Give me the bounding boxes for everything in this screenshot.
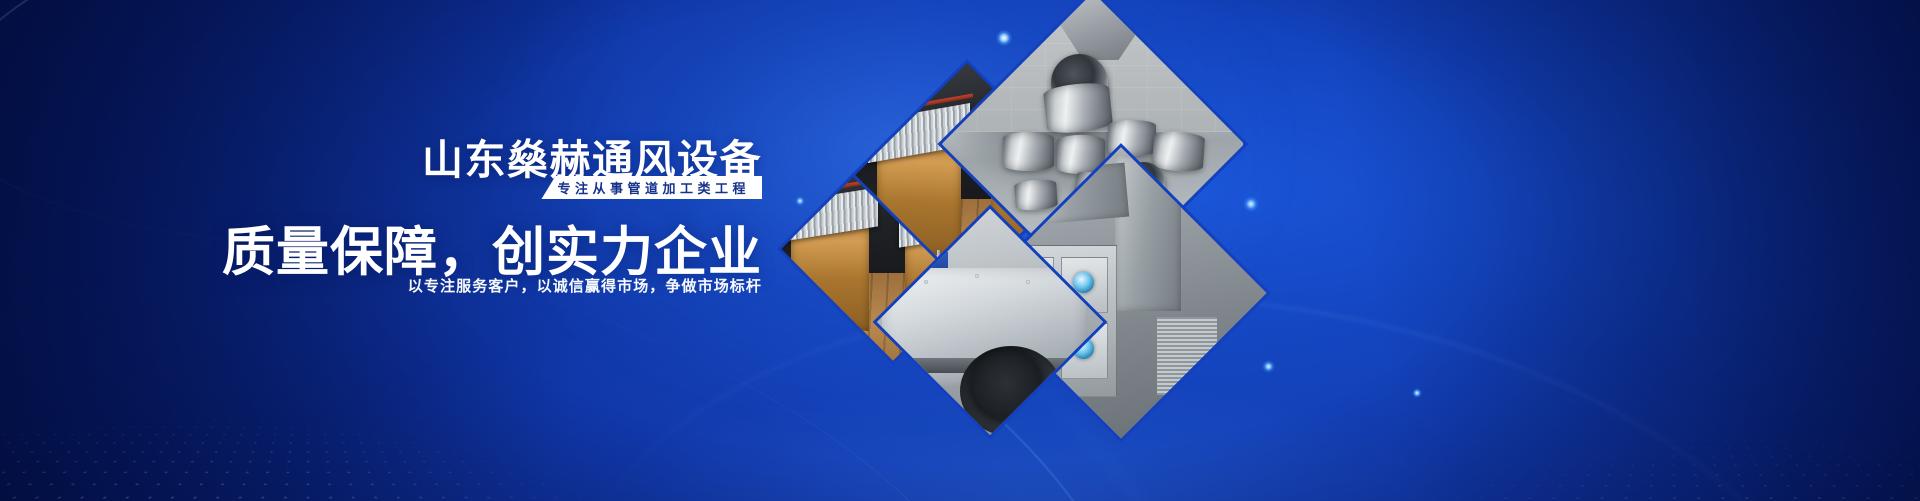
sub-tagline: 以专注服务客户，以诚信赢得市场，争做市场标杆 bbox=[408, 275, 762, 296]
specialty-badge: 专注从事管道加工类工程 bbox=[541, 176, 762, 199]
product-image-collage bbox=[800, 42, 1240, 382]
headline-text-block: 山东燊赫通风设备 专注从事管道加工类工程 质量保障，创实力企业 以专注服务客户，… bbox=[0, 0, 790, 501]
promotional-banner: 山东燊赫通风设备 专注从事管道加工类工程 质量保障，创实力企业 以专注服务客户，… bbox=[0, 0, 1920, 501]
sparkle-icon bbox=[996, 30, 1012, 46]
